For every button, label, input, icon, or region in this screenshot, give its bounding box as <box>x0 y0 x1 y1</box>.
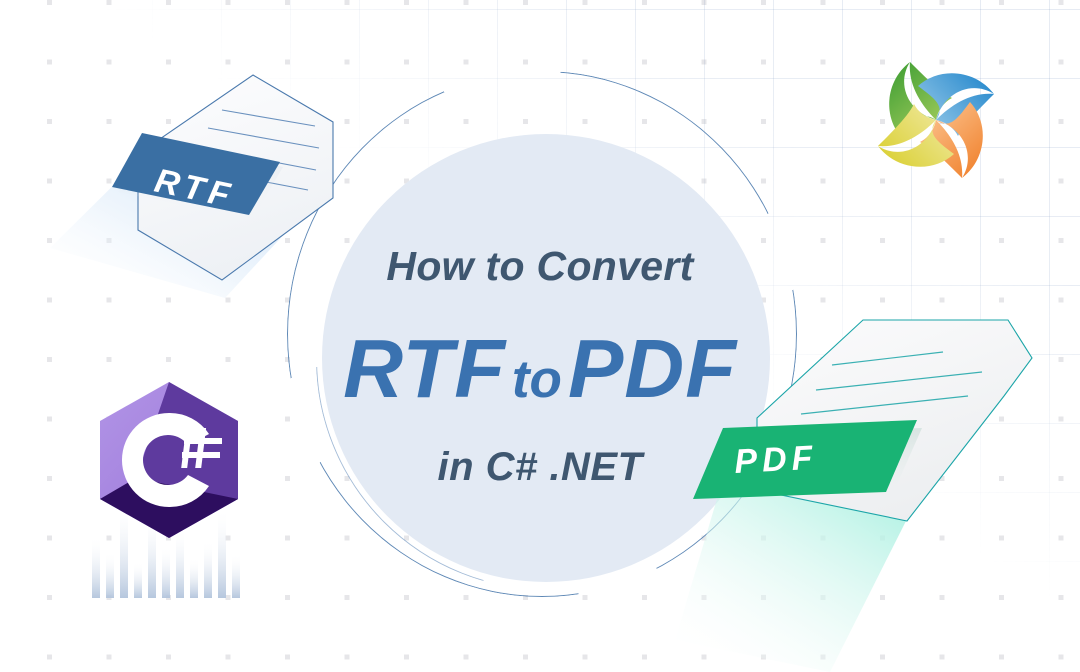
pdf-badge-label: PDF <box>733 439 818 481</box>
product-spiral-logo <box>856 40 1016 200</box>
pdf-badge: PDF <box>693 420 917 499</box>
rtf-document: RTF <box>40 70 370 300</box>
csharp-logo <box>96 380 242 540</box>
banner-root: RTF <box>0 0 1080 672</box>
pdf-document: PDF <box>660 300 1060 672</box>
